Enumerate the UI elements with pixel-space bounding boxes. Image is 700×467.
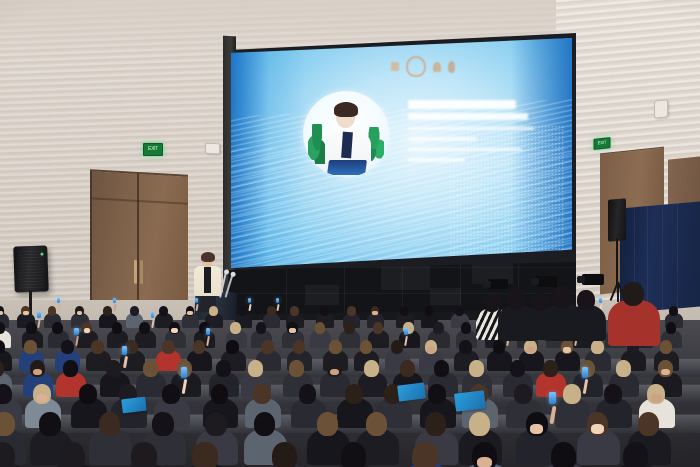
slide-text-block: [408, 100, 558, 165]
slide-title: [408, 100, 516, 109]
audience-member-head: [162, 340, 175, 354]
audience-member-head: [425, 306, 434, 316]
raised-phone-screen: [206, 328, 210, 335]
audience-member-head: [366, 412, 387, 436]
audience-member-nape: [23, 311, 28, 315]
audience-member-head: [59, 442, 85, 467]
door-rail: [92, 197, 188, 204]
raised-phone-screen: [122, 346, 127, 355]
raised-phone-screen: [57, 298, 60, 303]
raised-arm: [276, 303, 279, 310]
audience-member-head: [551, 442, 577, 467]
audience-member-head: [373, 322, 384, 334]
audience-member-head: [510, 360, 525, 377]
audience-member-head: [347, 306, 356, 316]
video-camera-icon: [536, 276, 557, 287]
portrait-scarf: [341, 132, 353, 159]
audience-member-nape: [563, 347, 571, 353]
press-photographer-head: [484, 294, 500, 312]
audience-member-head: [61, 340, 74, 354]
audience-member-head: [616, 360, 631, 377]
raised-phone-screen: [404, 328, 408, 335]
audience-member-head: [125, 340, 138, 354]
audience-member-nape: [289, 328, 295, 333]
audience-member-head: [320, 306, 329, 316]
audience-member-head: [0, 412, 15, 436]
audience-member-head: [434, 360, 449, 377]
audience-member-head: [345, 384, 363, 404]
audience-member-head: [253, 384, 271, 404]
audience-member-head: [299, 384, 317, 404]
exit-sign-label: EXIT: [598, 141, 606, 146]
sponsor-logo-icon: [406, 56, 426, 77]
sponsor-logo-icon: [448, 61, 455, 73]
audience-member-nape: [427, 347, 435, 353]
exit-sign-icon: EXIT: [143, 143, 163, 156]
raised-phone-screen: [549, 392, 557, 405]
audience-member-nape: [372, 311, 377, 315]
audience-member-head: [209, 306, 218, 316]
audience-member-head: [248, 360, 263, 377]
audience-member-head: [660, 340, 673, 354]
audience-member-head: [622, 282, 644, 306]
raised-arm: [195, 303, 198, 310]
power-led-icon: [40, 253, 43, 256]
raised-phone-screen: [582, 367, 588, 378]
audience-member-head: [143, 360, 158, 377]
raised-phone-screen: [37, 312, 41, 318]
audience-member-head: [400, 306, 409, 316]
raised-phone-screen: [74, 328, 78, 335]
audience-member-head: [455, 306, 464, 316]
audience-member-head: [461, 322, 472, 334]
audience-member-nape: [171, 328, 177, 333]
raised-phone-screen: [151, 312, 155, 318]
audience-member-head: [315, 322, 326, 334]
audience-member-head: [39, 412, 60, 436]
presenter-hair: [201, 252, 215, 262]
raised-phone-screen: [276, 298, 279, 303]
press-photographer-head: [552, 286, 571, 308]
audience-member-head: [591, 340, 604, 354]
audience-member-head: [52, 322, 63, 334]
audience-member-head: [293, 340, 306, 354]
audience-member-head: [226, 340, 239, 354]
audience-member-head: [230, 322, 241, 334]
audience-member-head: [412, 442, 438, 467]
audience-member-head: [543, 360, 558, 377]
presentation-slide: [231, 38, 572, 268]
audience-member-head: [106, 360, 121, 377]
audience-member-head: [239, 306, 248, 316]
portrait-hair: [334, 102, 358, 117]
audience-member-nape: [591, 424, 604, 434]
audience-member-head: [360, 340, 373, 354]
pa-speaker-right: [608, 198, 626, 242]
program-booklet: [454, 390, 486, 412]
raised-arm: [113, 303, 116, 310]
audience-member-head: [469, 412, 490, 436]
audience-member-head: [139, 322, 150, 334]
audience-member-head: [79, 384, 97, 404]
audience-member-nape: [0, 311, 3, 315]
exit-sign-icon: EXIT: [594, 137, 611, 150]
slide-logo-row: [391, 56, 455, 77]
wall-mounted-device: [654, 99, 668, 118]
audience-member-head: [344, 322, 355, 334]
audience-member-head: [63, 360, 78, 377]
audience-member-head: [623, 442, 649, 467]
audience-member-head: [256, 322, 267, 334]
audience-member-head: [290, 306, 299, 316]
audience-member-head: [261, 340, 274, 354]
audience-member-nape: [84, 328, 90, 333]
conference-hall-photo: EXIT EXIT: [0, 0, 700, 467]
raised-arm: [248, 303, 251, 310]
audience-member-nape: [651, 394, 662, 402]
raised-phone-screen: [599, 298, 602, 303]
audience-member-head: [211, 384, 229, 404]
press-photographer-head: [532, 292, 549, 311]
audience-member-nape: [33, 369, 42, 376]
audience-member-head: [391, 340, 404, 354]
audience-member-head: [669, 306, 678, 316]
audience-member-head: [216, 360, 231, 377]
audience-member-head: [193, 340, 206, 354]
audience-member-head: [329, 340, 342, 354]
audience-member-head: [272, 442, 298, 467]
raised-phone-screen: [113, 298, 116, 303]
audience-member-head: [0, 384, 12, 404]
audience-member-head: [152, 412, 173, 436]
audience-member-nape: [527, 347, 535, 353]
exit-sign-label: EXIT: [148, 147, 158, 152]
audience-member-red-shirt: [608, 300, 660, 346]
press-photographer-head: [577, 290, 595, 310]
audience-member-head: [24, 340, 37, 354]
audience-member-head: [428, 384, 446, 404]
audience-member-head: [514, 384, 532, 404]
audience-member-head: [341, 442, 367, 467]
audience-member-head: [91, 340, 104, 354]
audience-member-nape: [77, 311, 82, 315]
audience-member-head: [400, 360, 415, 377]
audience-member-head: [425, 412, 446, 436]
audience-member-head: [192, 442, 218, 467]
audience-member-head: [604, 384, 622, 404]
audience-member-head: [563, 384, 581, 404]
raised-arm: [57, 303, 60, 310]
video-camera-icon: [582, 274, 604, 285]
audience-member-nape: [530, 424, 543, 434]
audience-member-head: [131, 442, 157, 467]
audience-member-head: [666, 322, 677, 334]
press-photographer-head: [507, 288, 525, 309]
audience-member-head: [48, 306, 57, 316]
audience-member-nape: [187, 311, 192, 315]
audience-member-head: [205, 412, 226, 436]
raised-phone-screen: [248, 298, 251, 303]
audience-member-head: [159, 306, 168, 316]
audience-area: [0, 272, 700, 467]
audience-member-head: [433, 322, 444, 334]
audience-member-head: [289, 360, 304, 377]
audience-member-nape: [477, 457, 492, 467]
slide-body-line: [408, 148, 522, 151]
audience-member-head: [254, 412, 275, 436]
slide-body-line: [408, 127, 534, 130]
speaker-portrait-photo: [303, 91, 389, 177]
press-photographer: [568, 305, 605, 340]
audience-member-head: [26, 322, 37, 334]
video-camera-icon: [488, 279, 508, 289]
sponsor-logo-icon: [391, 62, 399, 71]
raised-phone-screen: [181, 367, 187, 378]
audience-member-nape: [330, 369, 339, 376]
audience-member-head: [112, 322, 123, 334]
audience-member-head: [103, 306, 112, 316]
audience-member-head: [162, 384, 180, 404]
audience-member-head: [130, 306, 139, 316]
portrait-laptop-icon: [327, 160, 367, 175]
audience-member-head: [469, 360, 484, 377]
slide-subtitle: [408, 113, 528, 120]
audience-member-head: [638, 412, 659, 436]
audience-member-head: [267, 306, 276, 316]
sponsor-logo-icon: [433, 62, 441, 72]
audience-member-head: [364, 360, 379, 377]
wall-mounted-device: [205, 143, 220, 155]
audience-member-head: [317, 412, 338, 436]
audience-member-head: [99, 412, 120, 436]
audience-member-head: [459, 340, 472, 354]
raised-phone-screen: [195, 298, 198, 303]
slide-body-line: [408, 158, 465, 161]
audience-member-head: [493, 340, 506, 354]
slide-body-line: [408, 137, 477, 140]
plant-decoration-icon: [308, 124, 326, 164]
